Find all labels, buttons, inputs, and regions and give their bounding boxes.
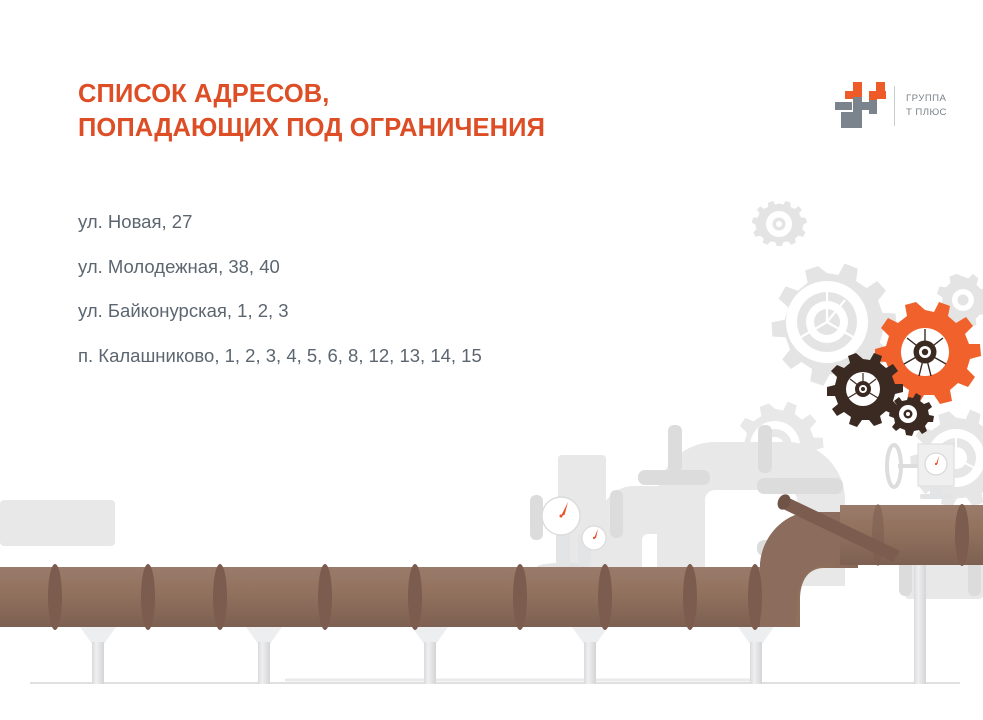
logo-divider [894, 86, 895, 126]
company-logo: ГРУППА Т ПЛЮС [833, 79, 965, 133]
logo-line-1: ГРУППА [906, 92, 947, 106]
address-list: ул. Новая, 27 ул. Молодежная, 38, 40 ул.… [78, 213, 738, 391]
logo-line-2: Т ПЛЮС [906, 106, 947, 120]
list-item: ул. Байконурская, 1, 2, 3 [78, 302, 738, 321]
logo-wordmark: ГРУППА Т ПЛЮС [906, 92, 947, 119]
t-plus-logo-icon [833, 80, 887, 132]
list-item: ул. Молодежная, 38, 40 [78, 258, 738, 277]
list-item: п. Калашниково, 1, 2, 3, 4, 5, 6, 8, 12,… [78, 347, 738, 366]
page-title: СПИСОК АДРЕСОВ, ПОПАДАЮЩИХ ПОД ОГРАНИЧЕН… [78, 78, 718, 146]
list-item: ул. Новая, 27 [78, 213, 738, 232]
slide-content: СПИСОК АДРЕСОВ, ПОПАДАЮЩИХ ПОД ОГРАНИЧЕН… [0, 0, 983, 720]
slide-canvas: СПИСОК АДРЕСОВ, ПОПАДАЮЩИХ ПОД ОГРАНИЧЕН… [0, 0, 983, 720]
